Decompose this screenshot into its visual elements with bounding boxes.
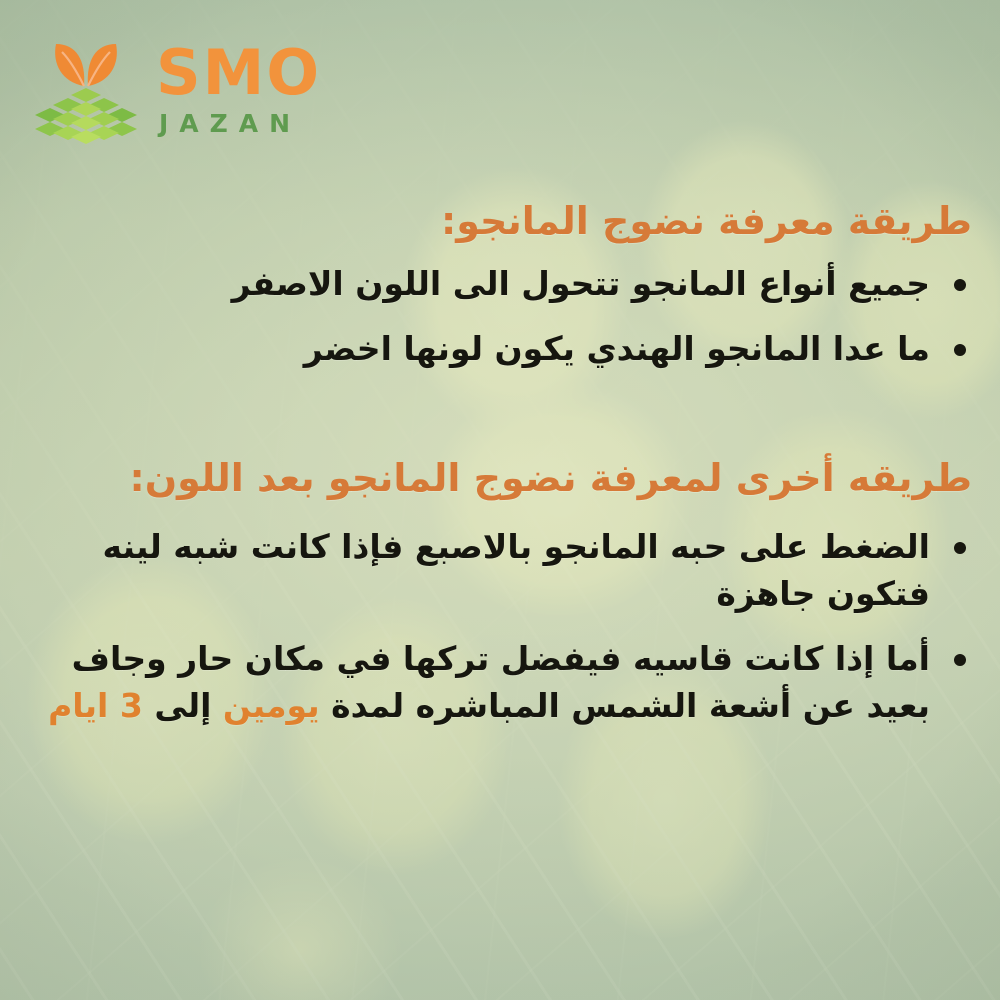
list-item: ما عدا المانجو الهندي يكون لونها اخضر <box>34 326 972 373</box>
final-point-middle: إلى <box>143 686 223 725</box>
list-item-with-highlight: أما إذا كانت قاسيه فيفضل تركها في مكان ح… <box>34 636 972 730</box>
final-point-highlight-start: يومين <box>223 686 320 725</box>
infographic-body: طريقة معرفة نضوج المانجو: جميع أنواع الم… <box>34 196 972 748</box>
brand-name-primary: SMO <box>156 42 321 104</box>
leaf-grid-logo-icon <box>22 28 150 146</box>
brand-wordmark: SMO JAZAN <box>156 42 321 136</box>
section-heading-color-method: طريقة معرفة نضوج المانجو: <box>34 196 972 247</box>
section-heading-touch-method: طريقه أخرى لمعرفة نضوج المانجو بعد اللون… <box>34 453 972 504</box>
content-layer: SMO JAZAN طريقة معرفة نضوج المانجو: جميع… <box>0 0 1000 1000</box>
brand-name-secondary: JAZAN <box>156 111 321 136</box>
section-spacer <box>34 391 972 453</box>
infographic-canvas: SMO JAZAN طريقة معرفة نضوج المانجو: جميع… <box>0 0 1000 1000</box>
brand-logo: SMO JAZAN <box>22 28 321 146</box>
final-point-highlight-end: 3 ايام <box>48 686 143 725</box>
list-item: جميع أنواع المانجو تتحول الى اللون الاصف… <box>34 261 972 308</box>
points-list-color-method: جميع أنواع المانجو تتحول الى اللون الاصف… <box>34 261 972 373</box>
list-item: الضغط على حبه المانجو بالاصبع فإذا كانت … <box>34 524 972 618</box>
points-list-touch-method: الضغط على حبه المانجو بالاصبع فإذا كانت … <box>34 524 972 729</box>
